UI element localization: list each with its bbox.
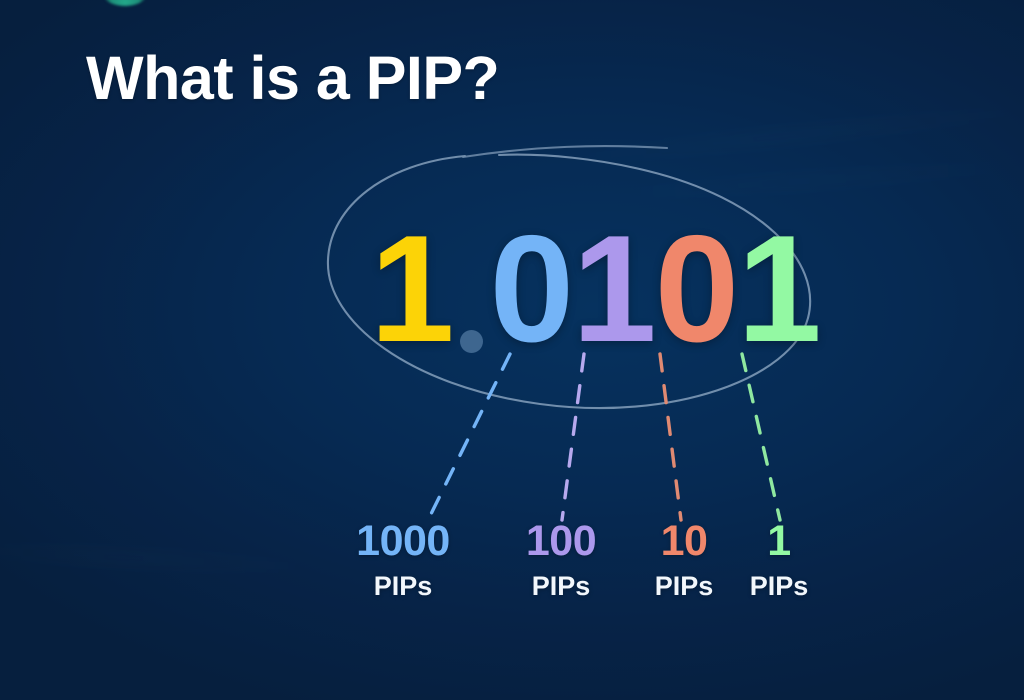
label-group-10: 10 PIPs	[655, 518, 714, 600]
background-streak	[561, 107, 1024, 162]
slide-canvas: What is a PIP? 1 0 1 0 1 1000 PIPs 100 P…	[0, 0, 1024, 700]
label-group-1000: 1000 PIPs	[356, 518, 450, 600]
label-unit: PIPs	[655, 572, 714, 600]
pip-scale-labels: 1000 PIPs 100 PIPs 10 PIPs 1 PIPs	[330, 518, 850, 618]
digit-fourth-decimal: 1	[737, 224, 820, 354]
digit-first-decimal: 0	[490, 224, 573, 354]
digit-third-decimal: 0	[655, 224, 738, 354]
background-streak	[0, 547, 320, 571]
connector-line-10	[660, 354, 681, 520]
label-unit: PIPs	[750, 572, 809, 600]
label-group-100: 100 PIPs	[526, 518, 596, 600]
label-value: 100	[526, 518, 596, 564]
pip-number-display: 1 0 1 0 1	[370, 224, 820, 354]
teal-leaf-mark-icon	[104, 0, 146, 6]
label-value: 10	[655, 518, 714, 564]
label-value: 1	[750, 518, 809, 564]
background-streak	[600, 163, 1024, 198]
label-unit: PIPs	[356, 572, 450, 600]
digit-whole-unit: 1	[370, 224, 453, 354]
page-title: What is a PIP?	[86, 46, 499, 110]
connector-line-100	[562, 354, 584, 520]
decimal-point	[453, 224, 490, 354]
connector-line-1000	[428, 354, 510, 520]
digit-second-decimal: 1	[572, 224, 655, 354]
label-value: 1000	[356, 518, 450, 564]
connector-line-1	[742, 354, 780, 520]
label-unit: PIPs	[526, 572, 596, 600]
label-group-1: 1 PIPs	[750, 518, 809, 600]
